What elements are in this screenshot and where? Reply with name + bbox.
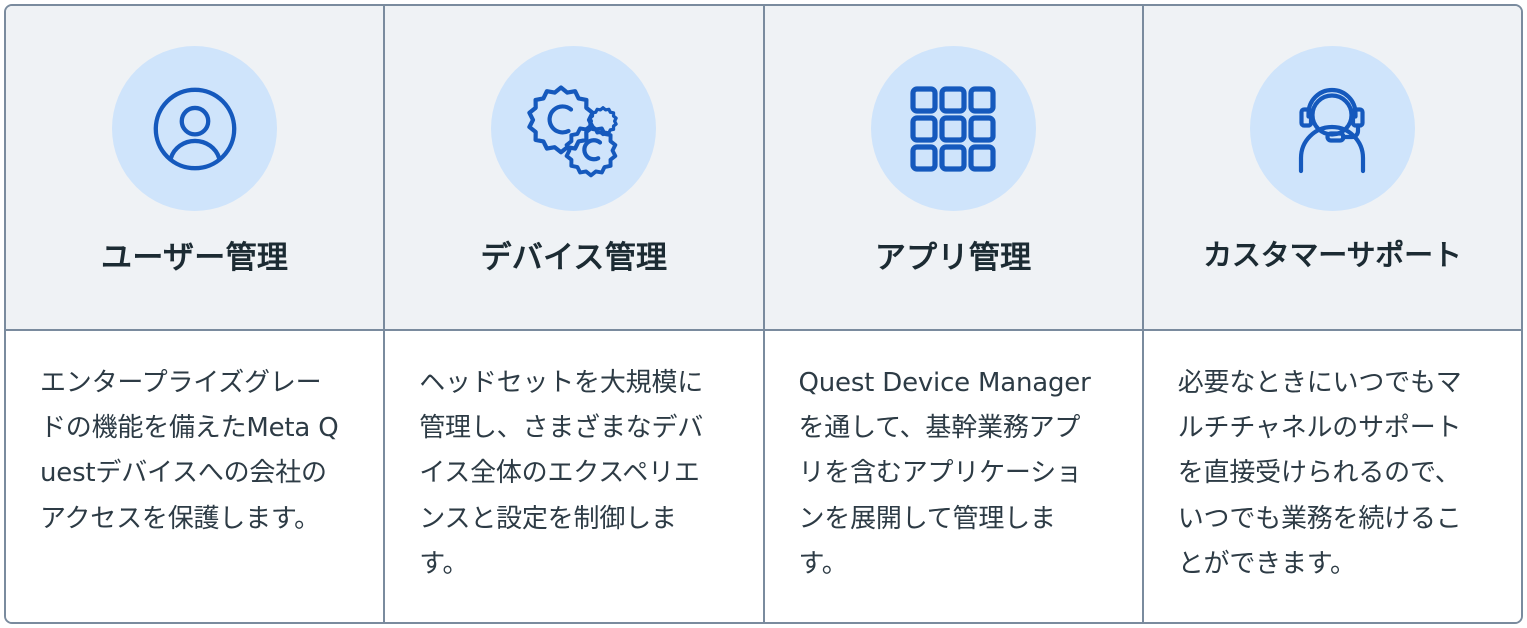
body-cell-app-management: Quest Device Managerを通して、基幹業務アプリを含むアプリケー…: [765, 331, 1144, 622]
card-title: アプリ管理: [875, 239, 1032, 276]
gears-icon: [491, 46, 656, 211]
card-description: Quest Device Managerを通して、基幹業務アプリを含むアプリケー…: [799, 361, 1102, 587]
header-cell-customer-support: カスタマーサポート: [1144, 6, 1521, 329]
table-body-row: エンタープライズグレードの機能を備えたMeta Questデバイスへの会社のアク…: [6, 331, 1521, 622]
header-cell-app-management: アプリ管理: [765, 6, 1144, 329]
table-header-row: ユーザー管理 デバイス管理: [6, 6, 1521, 331]
body-cell-user-management: エンタープライズグレードの機能を備えたMeta Questデバイスへの会社のアク…: [6, 331, 385, 622]
card-title: カスタマーサポート: [1203, 239, 1462, 274]
app-grid-icon: [871, 46, 1036, 211]
card-title: ユーザー管理: [101, 239, 288, 276]
user-avatar-icon: [112, 46, 277, 211]
header-cell-user-management: ユーザー管理: [6, 6, 385, 329]
card-description: 必要なときにいつでもマルチチャネルのサポートを直接受けられるので、いつでも業務を…: [1178, 361, 1481, 587]
headset-support-icon: [1250, 46, 1415, 211]
header-cell-device-management: デバイス管理: [385, 6, 764, 329]
feature-comparison-table: ユーザー管理 デバイス管理: [4, 4, 1523, 624]
card-description: ヘッドセットを大規模に管理し、さまざまなデバイス全体のエクスペリエンスと設定を制…: [419, 361, 722, 587]
body-cell-customer-support: 必要なときにいつでもマルチチャネルのサポートを直接受けられるので、いつでも業務を…: [1144, 331, 1521, 622]
screenshot-root: ユーザー管理 デバイス管理: [0, 0, 1527, 628]
body-cell-device-management: ヘッドセットを大規模に管理し、さまざまなデバイス全体のエクスペリエンスと設定を制…: [385, 331, 764, 622]
card-description: エンタープライズグレードの機能を備えたMeta Questデバイスへの会社のアク…: [40, 361, 343, 542]
card-title: デバイス管理: [480, 239, 667, 276]
